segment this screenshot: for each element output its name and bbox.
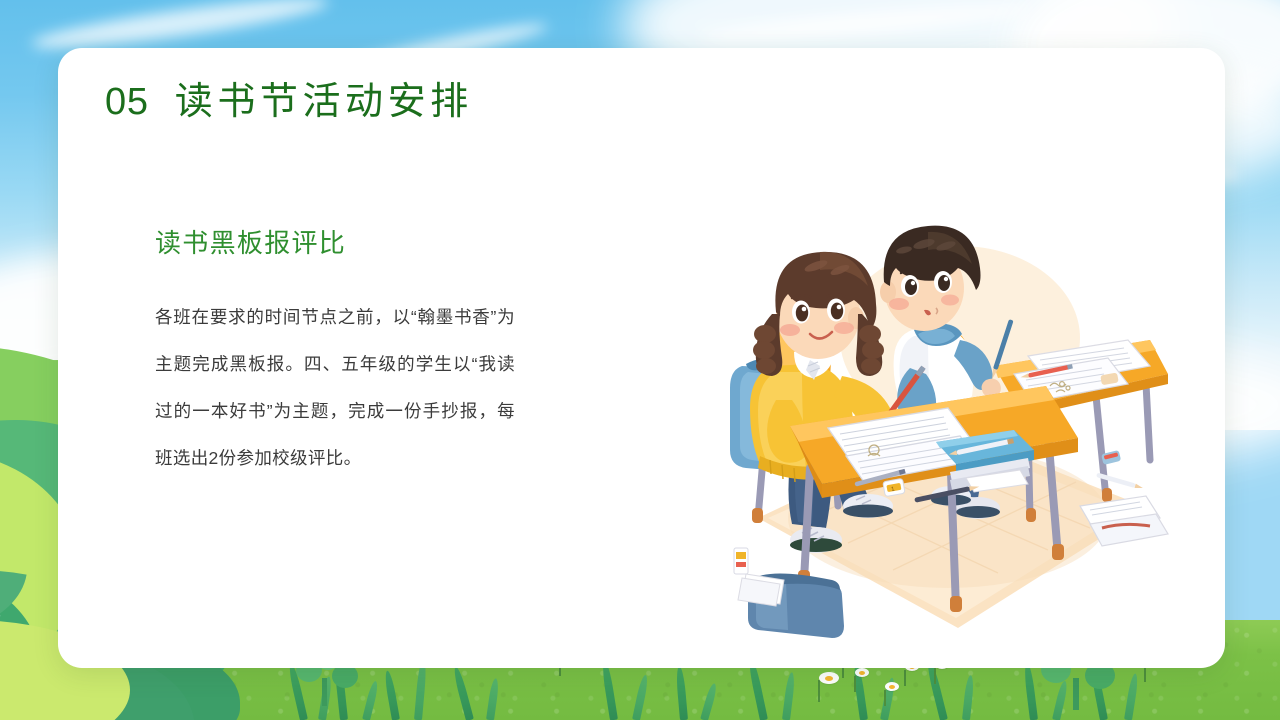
text-column: 读书黑板报评比 各班在要求的时间节点之前，以“翰墨书香”为主题完成黑板报。四、五… (155, 223, 535, 482)
section-title-text: 读书节活动安排 (175, 70, 473, 125)
section-subtitle: 读书黑板报评比 (155, 223, 535, 260)
body-paragraph: 各班在要求的时间节点之前，以“翰墨书香”为主题完成黑板报。四、五年级的学生以“我… (155, 294, 515, 482)
illustration-students-studying: 1 (698, 188, 1198, 648)
slide-canvas: 05 读书节活动安排 读书黑板报评比 各班在要求的时间节点之前，以“翰墨书香”为… (0, 0, 1280, 720)
content-card: 05 读书节活动安排 读书黑板报评比 各班在要求的时间节点之前，以“翰墨书香”为… (58, 48, 1225, 668)
page-title: 05 读书节活动安排 (105, 70, 473, 125)
section-number: 05 (105, 81, 149, 124)
